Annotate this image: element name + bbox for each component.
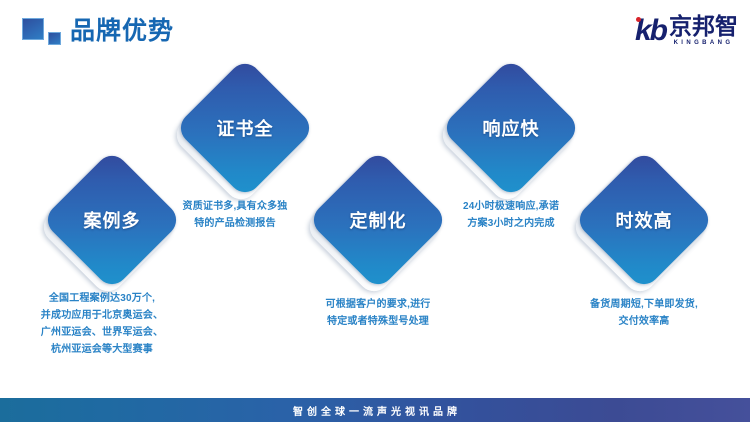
feature-desc-1: 全国工程案例达30万个, 并成功应用于北京奥运会、 广州亚运会、世界军运会、 杭…	[0, 290, 212, 358]
page-title: 品牌优势	[70, 14, 174, 48]
diamond-shape-5: 时效高	[594, 170, 694, 270]
logo-dot-icon	[636, 17, 641, 22]
feature-title-2: 证书全	[195, 78, 295, 178]
slide-footer: 智创全球一流声光视讯品牌	[0, 398, 750, 422]
diamond-shape-4: 响应快	[461, 78, 561, 178]
square-marker-small-icon	[48, 32, 61, 45]
footer-slogan: 智创全球一流声光视讯品牌	[289, 403, 461, 418]
diamond-shape-2: 证书全	[195, 78, 295, 178]
brand-logo: kb 京邦智 KINGBANG	[635, 14, 738, 48]
logo-wordmark: 京邦智 KINGBANG	[669, 15, 738, 47]
square-marker-large-icon	[22, 18, 44, 40]
slide-header: 品牌优势 kb 京邦智 KINGBANG	[0, 0, 750, 62]
feature-title-5: 时效高	[594, 170, 694, 270]
feature-desc-5: 备货周期短,下单即发货, 交付效率高	[534, 296, 750, 330]
logo-mark: kb	[635, 16, 666, 46]
feature-desc-3: 可根据客户的要求,进行 特定或者特殊型号处理	[268, 296, 488, 330]
logo-chinese-name: 京邦智	[669, 15, 738, 38]
slide-canvas: 品牌优势 kb 京邦智 KINGBANG 案例多 全国工程案例达30万个, 并成…	[0, 0, 750, 422]
logo-english-name: KINGBANG	[669, 39, 738, 47]
feature-title-4: 响应快	[461, 78, 561, 178]
